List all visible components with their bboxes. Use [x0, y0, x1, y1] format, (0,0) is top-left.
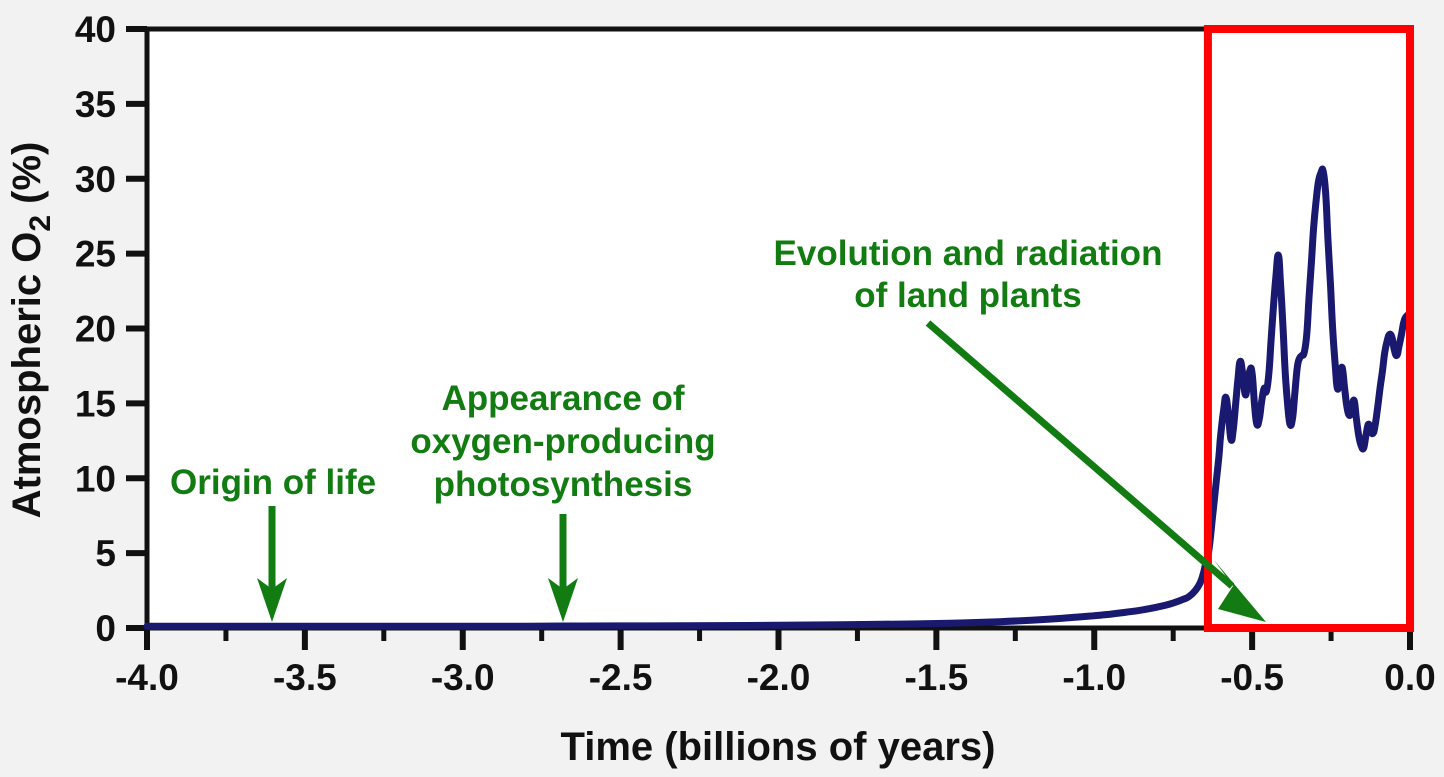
y-axis-title-main: Atmospheric O: [5, 232, 49, 519]
y-tick-label-0: 0: [95, 608, 116, 649]
y-tick-label-5: 5: [95, 533, 116, 574]
x-tick-label--2.5: -2.5: [589, 657, 653, 698]
x-tick-label--3.5: -3.5: [273, 657, 337, 698]
x-tick-label--0.5: -0.5: [1220, 657, 1284, 698]
oxygen-history-chart-figure: 0510152025303540 -4.0-3.5-3.0-2.5-2.0-1.…: [0, 0, 1444, 777]
annotation-oxygenic-photosynthesis-line-1: Appearance of: [441, 379, 684, 418]
y-tick-label-25: 25: [75, 234, 116, 275]
chart-canvas: 0510152025303540 -4.0-3.5-3.0-2.5-2.0-1.…: [0, 0, 1444, 777]
y-tick-label-10: 10: [75, 458, 116, 499]
y-tick-label-40: 40: [75, 9, 116, 50]
annotation-land-plants-line-2: of land plants: [854, 276, 1082, 315]
y-axis-title-subscript: 2: [24, 215, 57, 232]
y-tick-label-30: 30: [75, 159, 116, 200]
y-tick-label-15: 15: [75, 383, 116, 424]
x-tick-label--1: -1.0: [1062, 657, 1126, 698]
x-axis-tick-labels: -4.0-3.5-3.0-2.5-2.0-1.5-1.0-0.50.0: [115, 657, 1436, 698]
plot-area-background: [145, 28, 1412, 628]
x-tick-label-0: 0.0: [1384, 657, 1435, 698]
annotation-origin-of-life-line-1: Origin of life: [170, 463, 376, 502]
x-tick-label--2: -2.0: [747, 657, 811, 698]
x-tick-label--4: -4.0: [115, 657, 179, 698]
y-tick-label-20: 20: [75, 309, 116, 350]
y-tick-label-35: 35: [75, 84, 116, 125]
x-tick-label--3: -3.0: [431, 657, 495, 698]
y-axis-title-tail: (%): [5, 142, 49, 215]
x-axis-title: Time (billions of years): [561, 725, 996, 769]
annotation-oxygenic-photosynthesis-line-3: photosynthesis: [434, 465, 693, 504]
x-tick-label--1.5: -1.5: [904, 657, 968, 698]
annotation-land-plants-line-1: Evolution and radiation: [774, 234, 1163, 273]
annotation-oxygenic-photosynthesis-line-2: oxygen-producing: [410, 422, 715, 461]
